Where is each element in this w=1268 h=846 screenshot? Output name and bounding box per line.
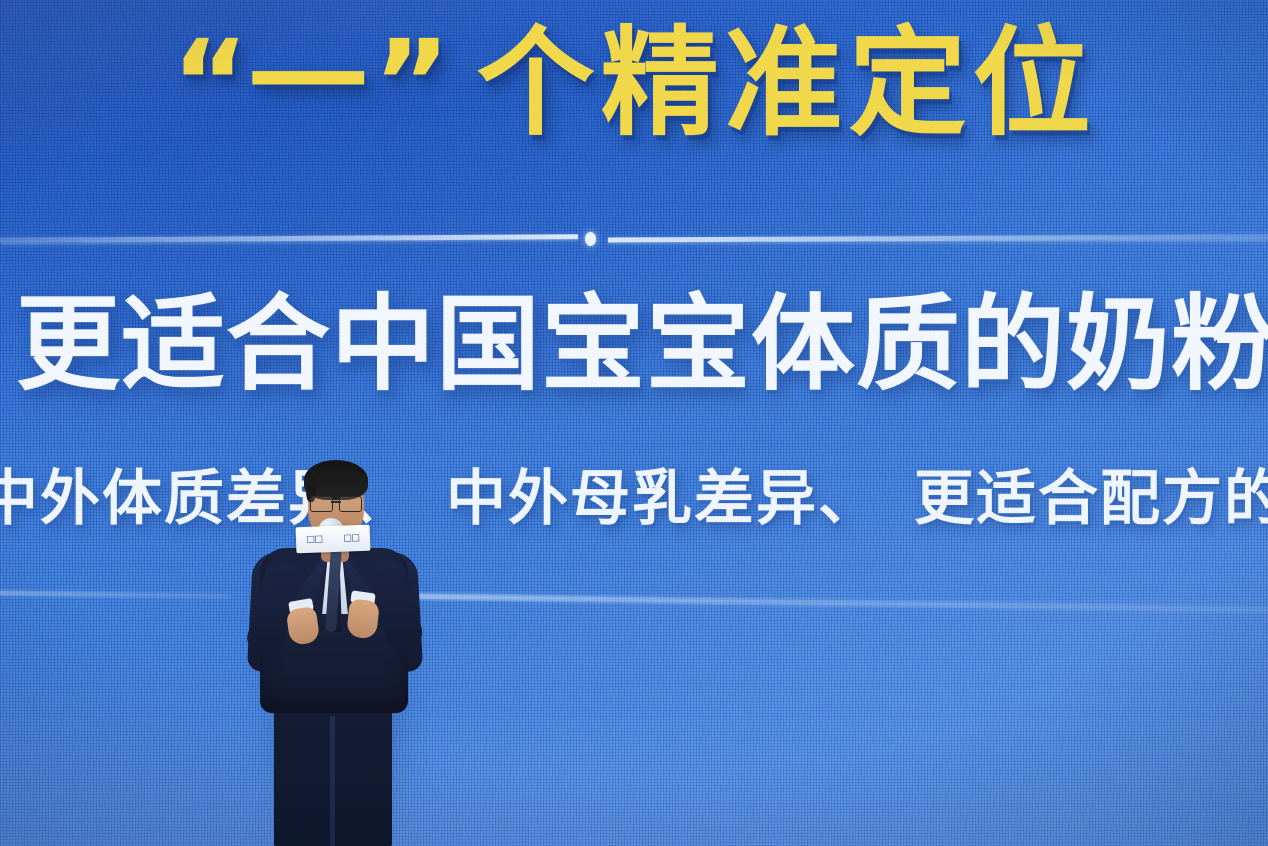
slide-divider	[0, 233, 1268, 243]
tagline-segment-2: 中外母乳差异、	[446, 464, 880, 534]
stage-photo: “一”个精准定位 更适合中国宝宝体质的奶粉 中外体质差异、中外母乳差异、更适合配…	[0, 0, 1268, 846]
eyeglasses-lens-right	[339, 496, 362, 512]
headline-rest-text: 个精准定位	[477, 14, 1097, 152]
tagline-segment-3: 更适合配方的技	[914, 464, 1268, 534]
eyeglasses-lens-left	[310, 496, 333, 512]
slide-subtitle: 更适合中国宝宝体质的奶粉	[16, 288, 1268, 400]
speaker-figure: □□ □□	[232, 440, 437, 846]
headline-quote-close: ”	[373, 14, 451, 152]
microphone-flag-mark-right: □□	[343, 533, 359, 544]
divider-line-left	[0, 234, 578, 243]
microphone-flag: □□ □□	[296, 525, 371, 554]
slide-headline: “一”个精准定位	[0, 22, 1268, 146]
headline-emphasis-char: 一	[249, 14, 373, 152]
divider-center-dot	[585, 232, 596, 246]
microphone-flag-mark-left: □□	[306, 534, 322, 545]
divider-line-right	[608, 235, 1268, 243]
eyeglasses-icon	[310, 496, 362, 511]
speaker-hair	[304, 460, 368, 500]
slide-tagline: 中外体质差异、中外母乳差异、更适合配方的技	[0, 466, 1268, 532]
headline-quote-open: “	[171, 14, 249, 152]
